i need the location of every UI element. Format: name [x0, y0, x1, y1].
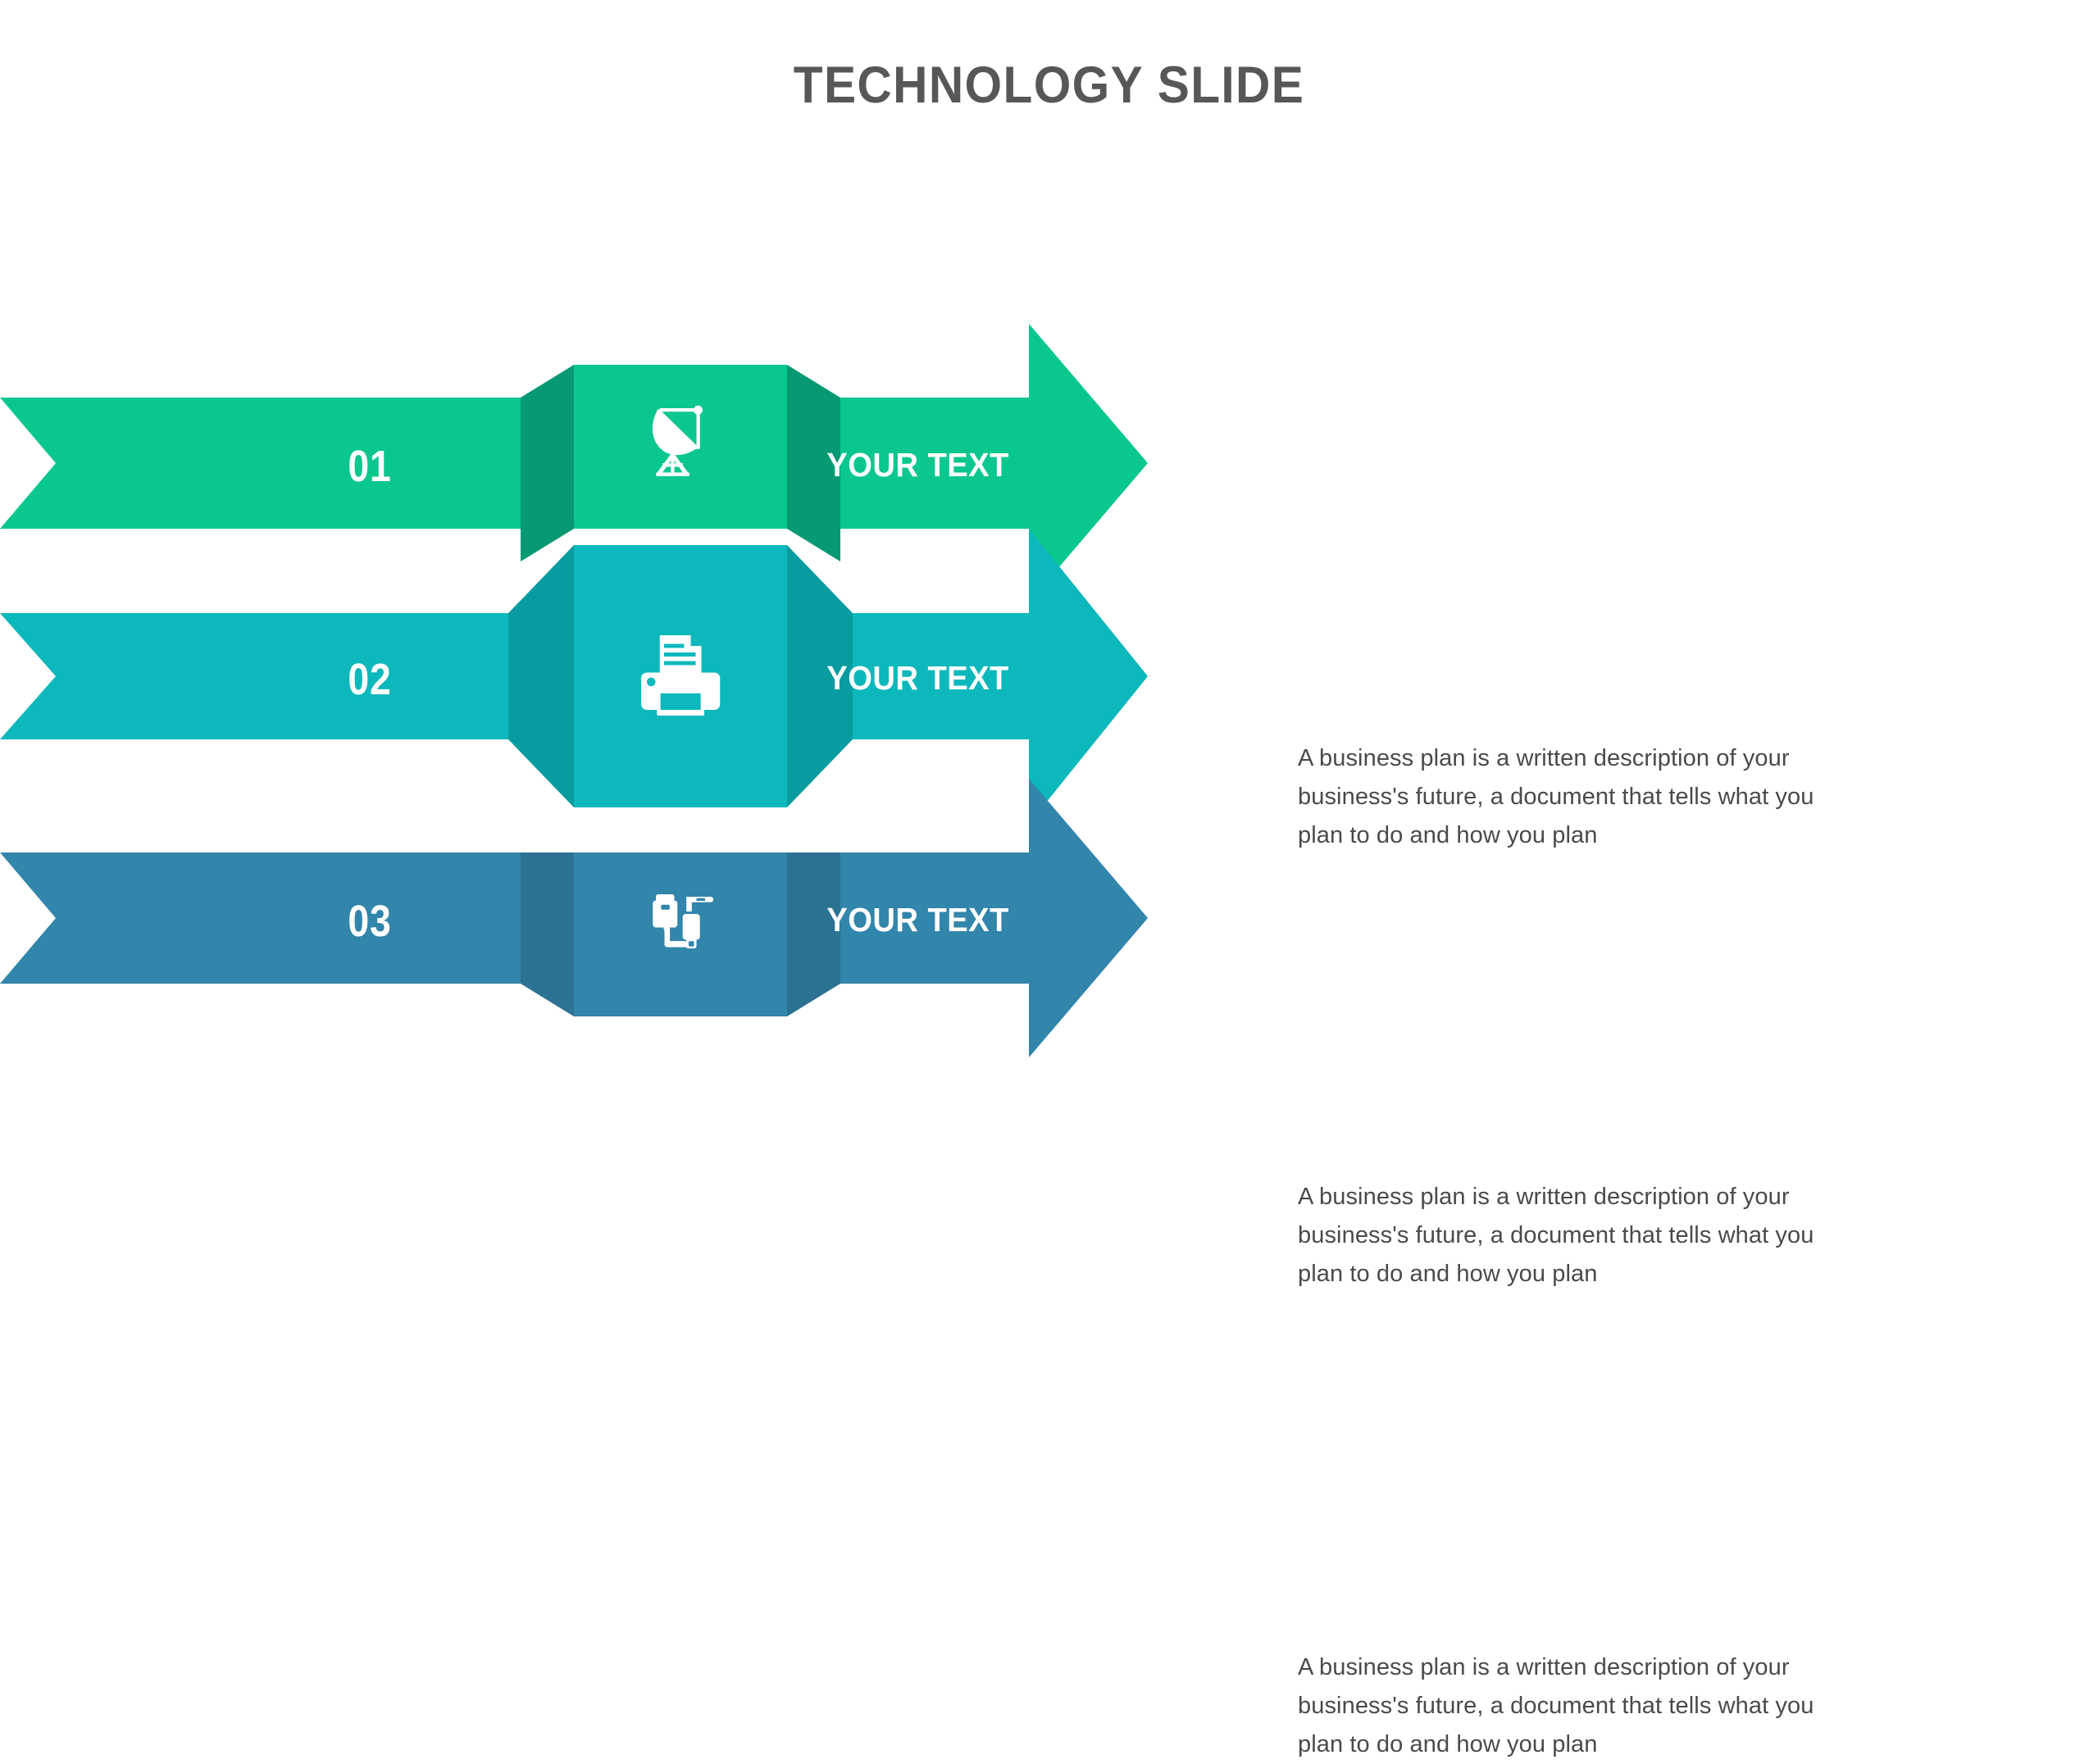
page-title: TECHNOLOGY SLIDE: [74, 56, 2025, 115]
row-01-label: YOUR TEXT: [826, 446, 1008, 484]
fold-panel-left-01: [521, 365, 574, 561]
usb-cable-icon: [641, 887, 720, 966]
row-03-description: A business plan is a written description…: [1298, 1648, 1864, 1764]
infographic-row-03[interactable]: 03 YOUR TEXT A business plan is a writte…: [0, 803, 2098, 1049]
row-02-description: A business plan is a written description…: [1298, 1178, 1864, 1293]
arrow-head-02: [1029, 529, 1148, 824]
row-03-label: YOUR TEXT: [826, 901, 1008, 939]
arrow-head-03: [1029, 779, 1148, 1057]
row-01-number: 01: [348, 441, 391, 492]
row-02-label: YOUR TEXT: [826, 659, 1008, 698]
row-03-number: 03: [348, 896, 391, 947]
infographic-row-01[interactable]: 01 YOUR TEXT A business plan is a writte…: [0, 344, 2098, 590]
row-02-graphic: 02 YOUR TEXT: [0, 557, 1164, 803]
row-03-graphic: 03 YOUR TEXT: [0, 803, 1164, 1049]
satellite-dish-icon: [638, 398, 723, 483]
fold-panel-left-03: [521, 852, 574, 1016]
row-02-number: 02: [348, 654, 391, 705]
slide-canvas: TECHNOLOGY SLIDE: [0, 0, 2098, 1180]
printer-icon: [635, 630, 727, 721]
number-banner-02: [0, 613, 574, 739]
infographic-row-02[interactable]: 02 YOUR TEXT A business plan is a writte…: [0, 557, 2098, 803]
number-banner-01: [0, 398, 574, 529]
number-banner-03: [0, 852, 574, 984]
fold-panel-left-02: [508, 545, 574, 807]
